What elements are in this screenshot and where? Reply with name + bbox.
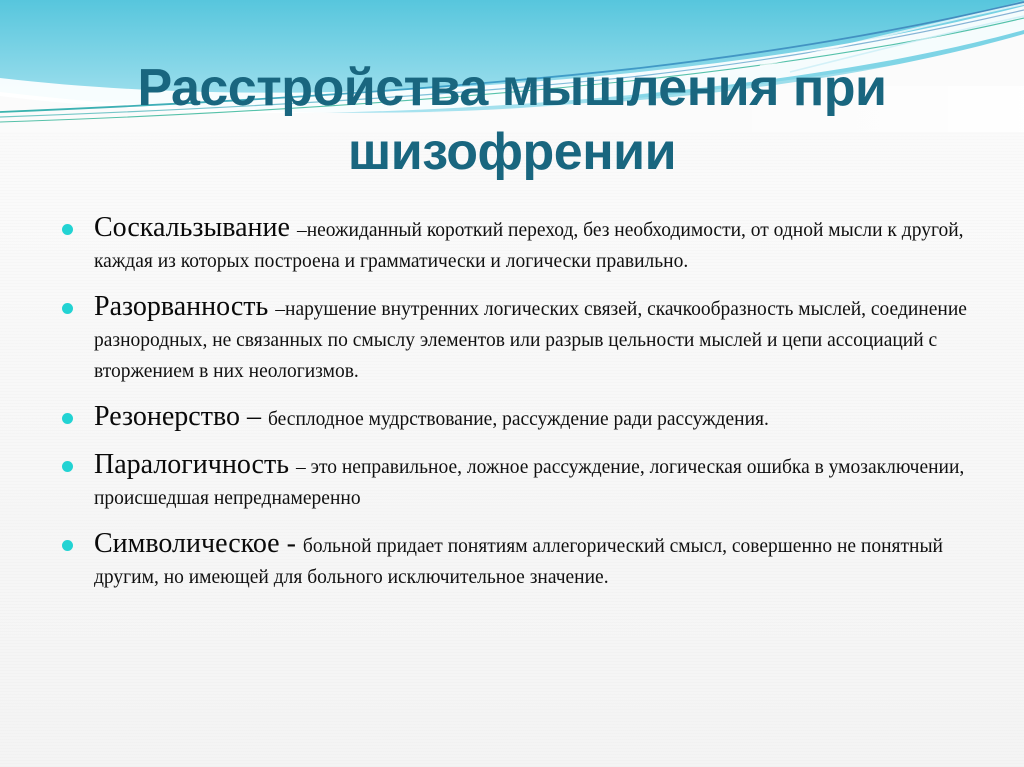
bullet-list: Соскальзывание –неожиданный короткий пер… [50, 212, 975, 607]
list-item: Символическое - больной придает понятиям… [50, 528, 975, 593]
bullet-text: Разорванность –нарушение внутренних логи… [94, 291, 975, 387]
bullet-definition: бесплодное мудрствование, рассуждение ра… [268, 409, 769, 430]
title-line-2: шизофрении [0, 120, 1024, 184]
bullet-text: Символическое - больной придает понятиям… [94, 528, 975, 593]
page-title: Расстройства мышления при шизофрении [0, 56, 1024, 184]
bullet-text: Паралогичность – это неправильное, ложно… [94, 449, 975, 514]
round-bullet-icon [62, 413, 73, 424]
presentation-slide: Расстройства мышления при шизофрении Сос… [0, 0, 1024, 767]
list-item: Резонерство – бесплодное мудрствование, … [50, 401, 975, 435]
round-bullet-icon [62, 303, 73, 314]
title-line-1: Расстройства мышления при [0, 56, 1024, 120]
bullet-term: Резонерство – [94, 401, 268, 432]
bullet-text: Соскальзывание –неожиданный короткий пер… [94, 212, 975, 277]
bullet-term: Паралогичность [94, 449, 296, 480]
list-item: Соскальзывание –неожиданный короткий пер… [50, 212, 975, 277]
round-bullet-icon [62, 461, 73, 472]
round-bullet-icon [62, 540, 73, 551]
list-item: Паралогичность – это неправильное, ложно… [50, 449, 975, 514]
bullet-term: Разорванность [94, 291, 275, 322]
round-bullet-icon [62, 224, 73, 235]
list-item: Разорванность –нарушение внутренних логи… [50, 291, 975, 387]
bullet-term: Соскальзывание [94, 212, 297, 243]
bullet-text: Резонерство – бесплодное мудрствование, … [94, 401, 975, 435]
bullet-term: Символическое - [94, 528, 303, 559]
